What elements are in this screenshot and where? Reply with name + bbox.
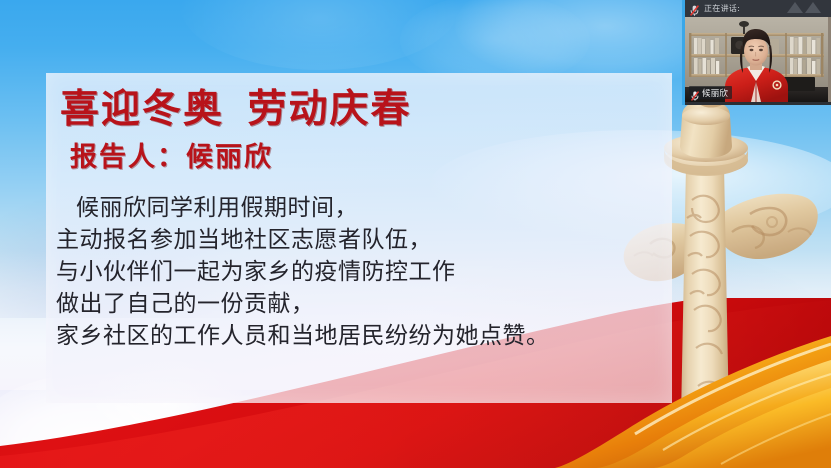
slide-body-line: 候丽欣同学利用假期时间， — [56, 191, 656, 223]
microphone-icon — [691, 88, 699, 98]
shared-screen-stage: 喜迎冬奥 劳动庆春 报告人：候丽欣 候丽欣同学利用假期时间， 主动报名参加当地社… — [0, 0, 831, 468]
slide-body-line: 做出了自己的一份贡献， — [56, 287, 656, 319]
slide-title: 喜迎冬奥 劳动庆春 — [60, 78, 412, 134]
speaker-name-label: 候丽欣 — [702, 87, 728, 99]
speaker-video-panel[interactable]: 正在讲话: — [682, 0, 831, 105]
chevron-up-icon[interactable] — [787, 2, 821, 13]
slide-body-line: 与小伙伴们一起为家乡的疫情防控工作 — [56, 255, 656, 287]
speaker-name-badge: 候丽欣 — [689, 86, 732, 99]
microphone-icon — [690, 3, 699, 14]
slide-subtitle-presenter: 报告人：候丽欣 — [70, 135, 273, 174]
speaking-status-label: 正在讲话: — [704, 3, 740, 14]
video-feed[interactable]: 候丽欣 — [685, 17, 831, 102]
slide-body-text: 候丽欣同学利用假期时间， 主动报名参加当地社区志愿者队伍， 与小伙伴们一起为家乡… — [56, 191, 656, 351]
slide-body-line: 主动报名参加当地社区志愿者队伍， — [56, 223, 656, 255]
slide-body-line: 家乡社区的工作人员和当地居民纷纷为她点赞。 — [56, 319, 656, 351]
slide-content-panel: 喜迎冬奥 劳动庆春 报告人：候丽欣 候丽欣同学利用假期时间， 主动报名参加当地社… — [46, 73, 672, 403]
video-panel-header[interactable]: 正在讲话: — [685, 0, 831, 17]
